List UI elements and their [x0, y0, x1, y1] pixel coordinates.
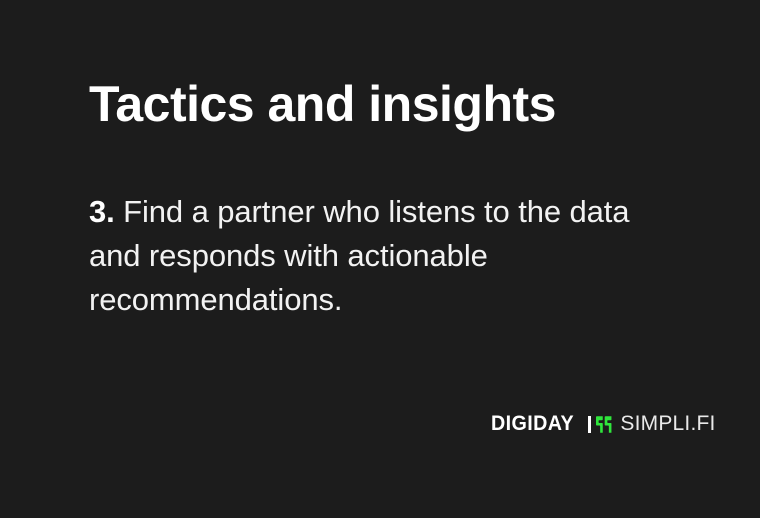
body-text: Find a partner who listens to the data a… — [89, 194, 629, 317]
simplifi-double-s-icon — [595, 415, 614, 434]
body-copy-block: 3. Find a partner who listens to the dat… — [89, 190, 664, 322]
page-title: Tactics and insights — [89, 72, 556, 136]
list-index: 3. — [89, 194, 115, 229]
slide-canvas: Tactics and insights 3. Find a partner w… — [0, 0, 760, 518]
body-paragraph: 3. Find a partner who listens to the dat… — [89, 190, 664, 322]
logo-divider-bar — [588, 416, 591, 433]
brand-logo-lockup: DIGIDAY SIMPLI.FI — [491, 413, 716, 435]
simplifi-wordmark: SIMPLI.FI — [620, 413, 715, 435]
digiday-wordmark: DIGIDAY — [491, 413, 574, 435]
